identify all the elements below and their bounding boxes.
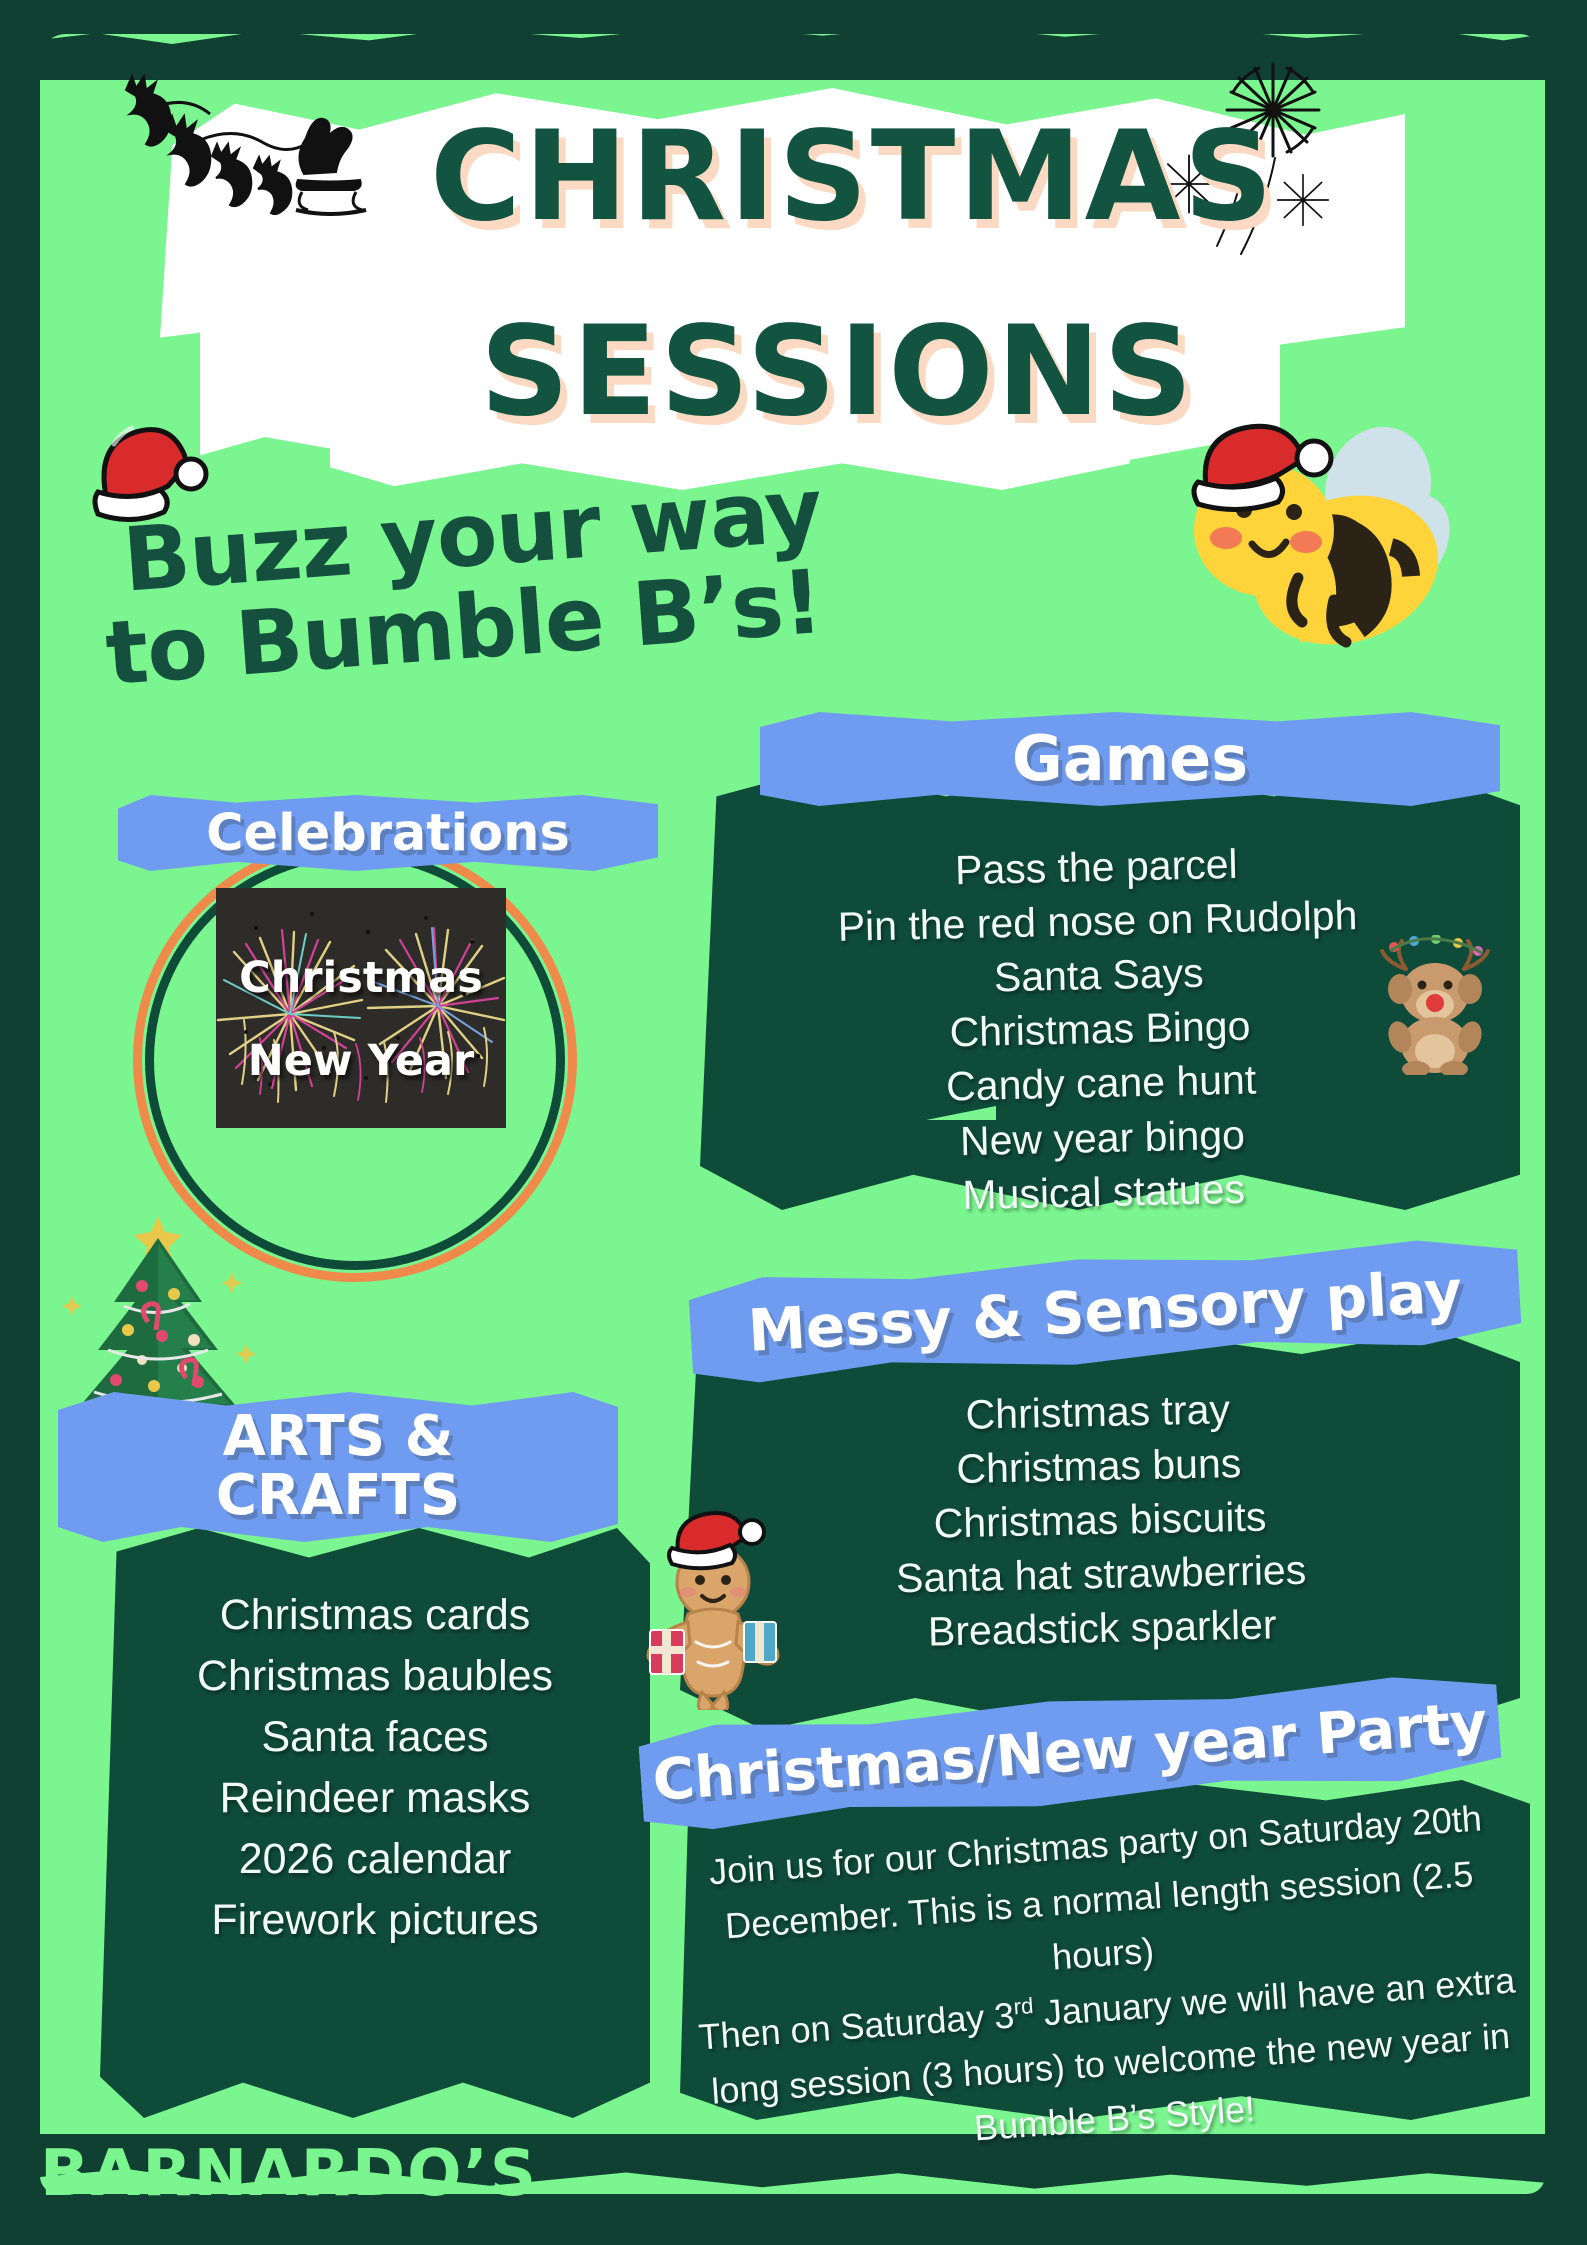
fireworks-photo: Christmas New Year [216, 888, 506, 1128]
reindeer-sleigh-icon [108, 72, 398, 242]
party-paragraph-2a: Then on Saturday 3 [697, 1995, 1015, 2058]
party-paragraph-2b: January we will have an extra long sessi… [710, 1960, 1516, 2148]
games-heading-text: Games [1012, 728, 1248, 790]
poster-root: CHRISTMAS SESSIONS Buzz your way to [0, 0, 1587, 2245]
list-item: Christmas baubles [105, 1646, 645, 1707]
games-list: Pass the parcel Pin the red nose on Rudo… [756, 832, 1444, 1226]
arts-crafts-heading-banner: ARTS & CRAFTS [58, 1392, 618, 1542]
arts-crafts-heading-text: ARTS & CRAFTS [216, 1408, 460, 1526]
arts-crafts-heading-line-2: CRAFTS [216, 1463, 460, 1528]
list-item: Firework pictures [105, 1890, 645, 1951]
reindeer-plush-icon [1370, 935, 1500, 1075]
fireworks-photo-caption-newyear: New Year [216, 1036, 506, 1086]
party-description: Join us for our Christmas party on Satur… [680, 1789, 1531, 2174]
list-item: Reindeer masks [105, 1768, 645, 1829]
games-heading-banner: Games [760, 712, 1500, 806]
poster-title-line-2: SESSIONS [480, 300, 1196, 444]
messy-sensory-list: Christmas tray Christmas buns Christmas … [697, 1377, 1502, 1664]
celebrations-heading-text: Celebrations [206, 808, 570, 859]
poster-title-line-1: CHRISTMAS [430, 105, 1276, 249]
arts-crafts-list: Christmas cards Christmas baubles Santa … [105, 1585, 645, 1951]
celebrations-heading-banner: Celebrations [118, 795, 658, 871]
christmas-bee-icon [1148, 402, 1468, 667]
fireworks-photo-caption-christmas: Christmas [216, 953, 506, 1003]
gingerbread-man-icon [628, 1510, 798, 1710]
list-item: 2026 calendar [105, 1829, 645, 1890]
list-item: Santa faces [105, 1707, 645, 1768]
party-ordinal-suffix: rd [1013, 1993, 1035, 2019]
list-item: Christmas cards [105, 1585, 645, 1646]
arts-crafts-heading-line-1: ARTS & [223, 1404, 454, 1469]
barnardos-logo: BARNARDO’S [40, 2137, 538, 2211]
